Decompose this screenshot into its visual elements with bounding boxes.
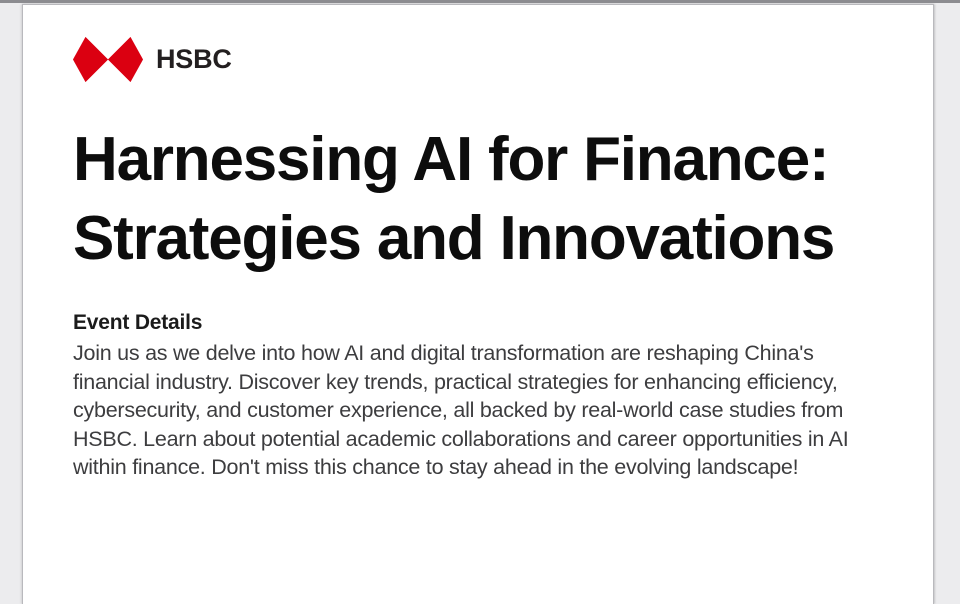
page-title: Harnessing AI for Finance: Strategies an… [23, 82, 933, 278]
event-details-section: Event Details Join us as we delve into h… [23, 310, 933, 482]
hsbc-wordmark: HSBC [156, 46, 232, 73]
hsbc-hexagon-icon [73, 37, 143, 82]
hsbc-brand-lockup: HSBC [23, 5, 933, 82]
document-page: HSBC Harnessing AI for Finance: Strategi… [22, 4, 934, 604]
event-details-heading: Event Details [73, 310, 883, 336]
window-top-rule [0, 0, 960, 3]
event-details-body: Join us as we delve into how AI and digi… [73, 339, 883, 482]
document-viewport[interactable]: HSBC Harnessing AI for Finance: Strategi… [0, 0, 960, 600]
